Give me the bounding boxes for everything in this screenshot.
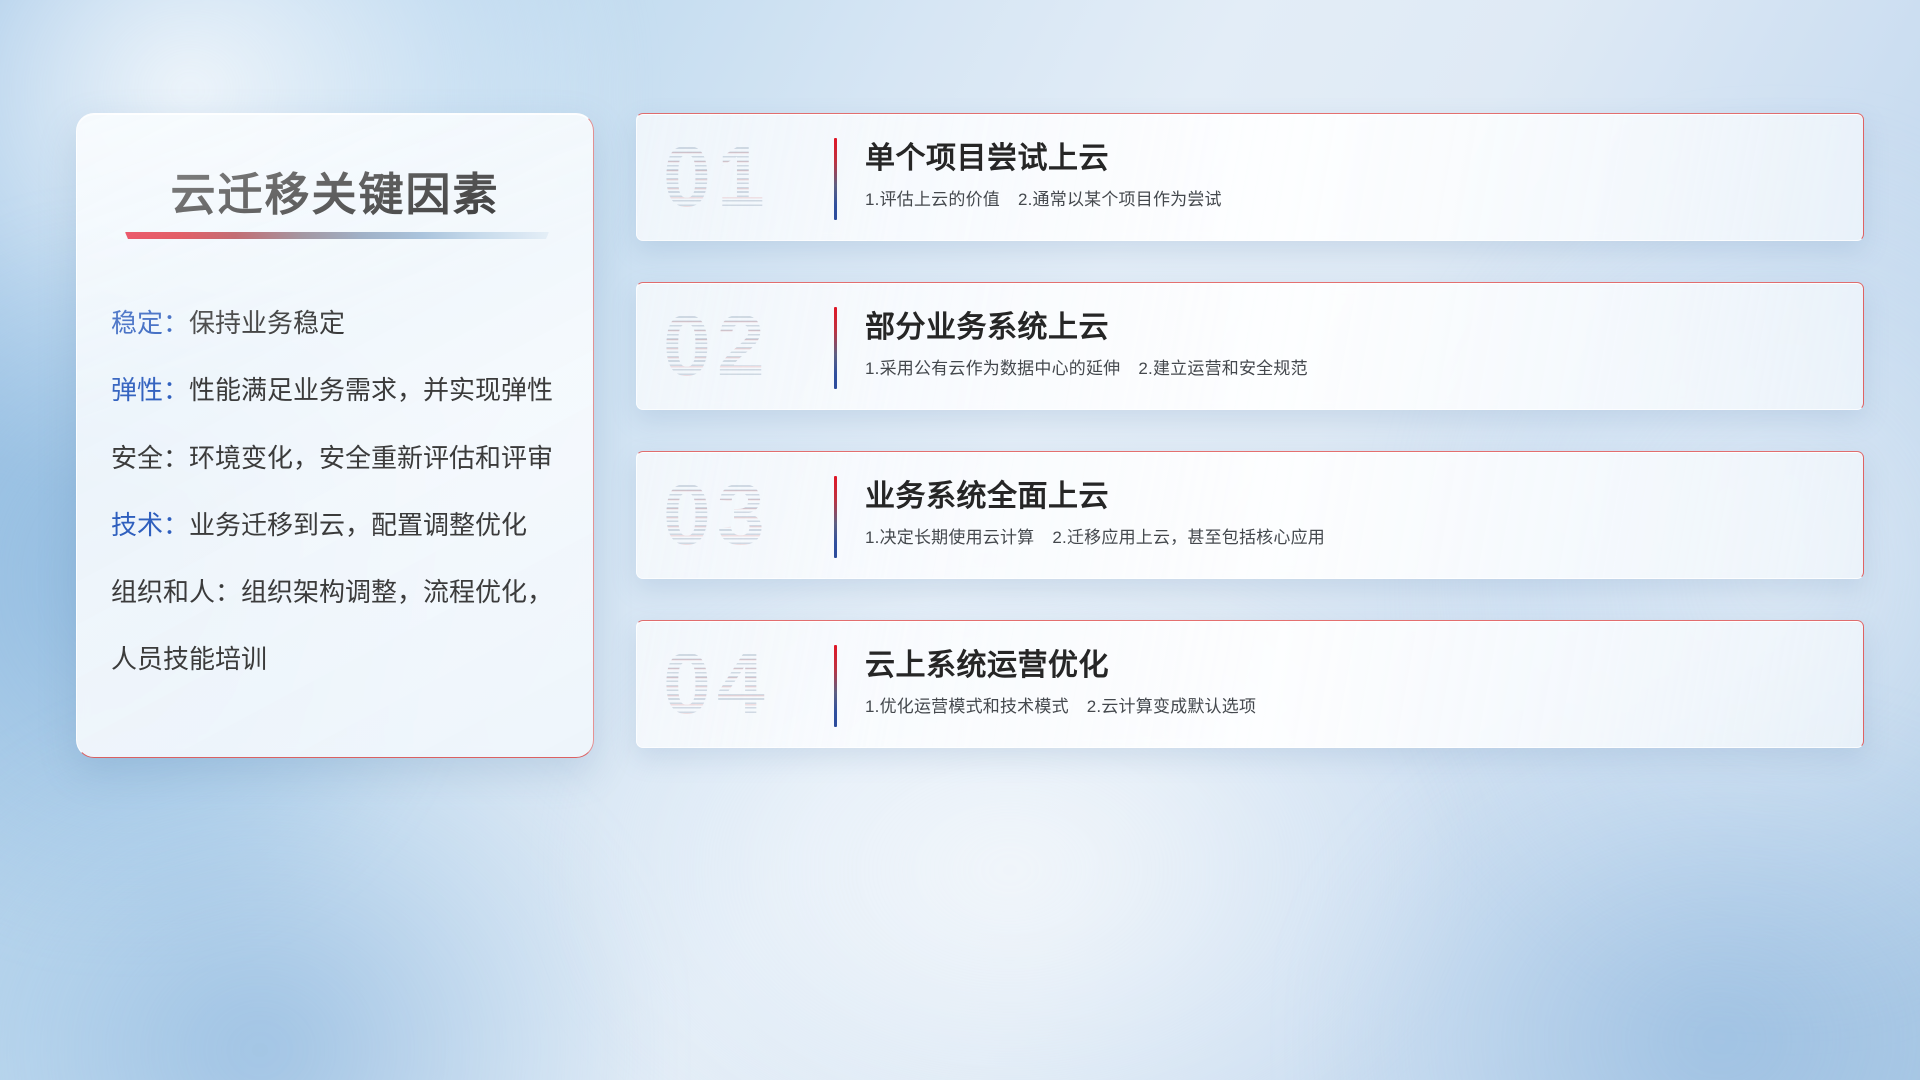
factor-text: 业务迁移到云，配置调整优化 — [189, 510, 527, 540]
stages-card-list: 01 01 单个项目尝试上云 1.评估上云的价值2.通常以某个项目作为尝试 02… — [636, 113, 1864, 748]
list-item: 弹性：性能满足业务需求，并实现弹性 — [111, 377, 569, 404]
stage-description: 1.优化运营模式和技术模式2.云计算变成默认选项 — [865, 697, 1839, 717]
stage-text-block: 部分业务系统上云 1.采用公有云作为数据中心的延伸2.建立运营和安全规范 — [865, 311, 1839, 379]
stage-title: 云上系统运营优化 — [865, 649, 1839, 683]
factor-text: 性能满足业务需求，并实现弹性 — [189, 375, 553, 405]
stage-card-03[interactable]: 03 03 业务系统全面上云 1.决定长期使用云计算2.迁移应用上云，甚至包括核… — [636, 451, 1864, 579]
stage-description-part-2: 2.建立运营和安全规范 — [1138, 359, 1307, 378]
stage-text-block: 业务系统全面上云 1.决定长期使用云计算2.迁移应用上云，甚至包括核心应用 — [865, 480, 1839, 548]
stage-description-part-2: 2.云计算变成默认选项 — [1087, 697, 1256, 716]
factor-label: 弹性： — [111, 375, 189, 405]
list-item: 稳定：保持业务稳定 — [111, 310, 569, 337]
factor-label: 组织和人： — [111, 577, 241, 607]
stage-description-part-1: 1.采用公有云作为数据中心的延伸 — [865, 359, 1120, 378]
accent-divider-bar — [834, 645, 837, 727]
stage-description: 1.决定长期使用云计算2.迁移应用上云，甚至包括核心应用 — [865, 528, 1839, 548]
factor-text: 环境变化，安全重新评估和评审 — [189, 443, 553, 473]
stage-description-part-2: 2.迁移应用上云，甚至包括核心应用 — [1052, 528, 1325, 547]
key-factors-list: 稳定：保持业务稳定 弹性：性能满足业务需求，并实现弹性 安全：环境变化，安全重新… — [111, 310, 569, 674]
accent-divider-bar — [834, 307, 837, 389]
factor-label: 稳定： — [111, 308, 189, 338]
factor-label: 安全： — [111, 443, 189, 473]
stage-description: 1.评估上云的价值2.通常以某个项目作为尝试 — [865, 190, 1839, 210]
list-item: 组织和人：组织架构调整，流程优化， — [111, 579, 569, 606]
factor-text: 保持业务稳定 — [189, 308, 345, 338]
factor-text: 人员技能培训 — [111, 644, 267, 674]
accent-divider-bar — [834, 476, 837, 558]
stage-card-02[interactable]: 02 02 部分业务系统上云 1.采用公有云作为数据中心的延伸2.建立运营和安全… — [636, 282, 1864, 410]
stage-number-01-tint: 01 — [663, 134, 771, 220]
list-item-continuation: 人员技能培训 — [111, 646, 569, 673]
stage-number-03-tint: 03 — [663, 472, 771, 558]
list-item: 技术：业务迁移到云，配置调整优化 — [111, 512, 569, 539]
stage-title: 部分业务系统上云 — [865, 311, 1839, 345]
stage-number-04-tint: 04 — [663, 641, 771, 727]
key-factors-panel: 云迁移关键因素 稳定：保持业务稳定 弹性：性能满足业务需求，并实现弹性 安全：环… — [76, 113, 594, 758]
stage-text-block: 单个项目尝试上云 1.评估上云的价值2.通常以某个项目作为尝试 — [865, 142, 1839, 210]
accent-divider-bar — [834, 138, 837, 220]
stage-description: 1.采用公有云作为数据中心的延伸2.建立运营和安全规范 — [865, 359, 1839, 379]
stage-title: 单个项目尝试上云 — [865, 142, 1839, 176]
factor-text: 组织架构调整，流程优化， — [241, 577, 553, 607]
stage-card-01[interactable]: 01 01 单个项目尝试上云 1.评估上云的价值2.通常以某个项目作为尝试 — [636, 113, 1864, 241]
page-title: 云迁移关键因素 — [77, 158, 593, 223]
stage-description-part-2: 2.通常以某个项目作为尝试 — [1018, 190, 1222, 209]
stage-description-part-1: 1.决定长期使用云计算 — [865, 528, 1034, 547]
list-item: 安全：环境变化，安全重新评估和评审 — [111, 445, 569, 472]
stage-description-part-1: 1.评估上云的价值 — [865, 190, 1000, 209]
factor-label: 技术： — [111, 510, 189, 540]
stage-description-part-1: 1.优化运营模式和技术模式 — [865, 697, 1069, 716]
stage-text-block: 云上系统运营优化 1.优化运营模式和技术模式2.云计算变成默认选项 — [865, 649, 1839, 717]
stage-card-04[interactable]: 04 04 云上系统运营优化 1.优化运营模式和技术模式2.云计算变成默认选项 — [636, 620, 1864, 748]
title-underline-accent — [125, 232, 549, 239]
stage-number-02-tint: 02 — [663, 303, 771, 389]
slide-content: 云迁移关键因素 稳定：保持业务稳定 弹性：性能满足业务需求，并实现弹性 安全：环… — [0, 0, 1920, 1080]
stage-title: 业务系统全面上云 — [865, 480, 1839, 514]
